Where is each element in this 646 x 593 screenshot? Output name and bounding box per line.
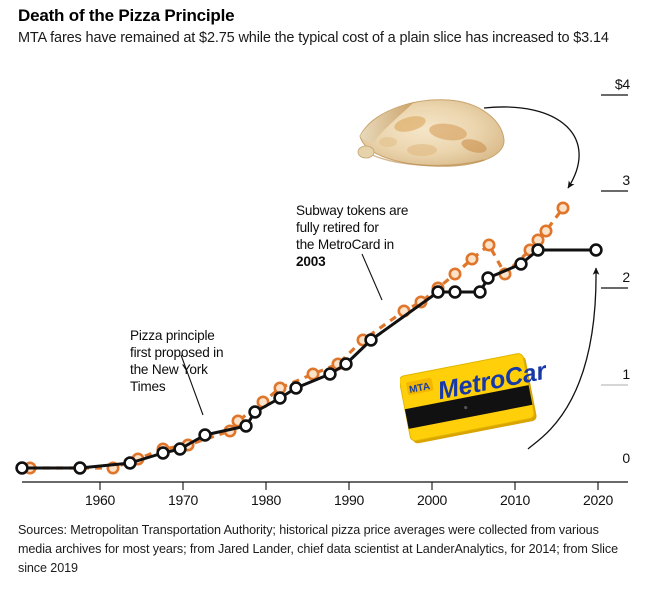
chart-page: Death of the Pizza Principle MTA fares h…: [0, 0, 646, 593]
y-tick-label-4: $4: [596, 76, 630, 92]
annotation-tokens-line2: fully retired for: [296, 219, 408, 236]
x-tick-label-1960: 1960: [70, 492, 130, 508]
y-tick-label-3: 3: [596, 172, 630, 188]
y-axis-ticks: [601, 95, 628, 385]
x-tick-label-1980: 1980: [236, 492, 296, 508]
chart-header: Death of the Pizza Principle MTA fares h…: [18, 6, 628, 49]
chart-plot-area: $4 3 2 1 0 1960 1970 1980 1990 2000 2010…: [0, 78, 646, 498]
annotation-pizza-line3: the New York: [130, 361, 223, 378]
annotation-tokens-year: 2003: [296, 253, 408, 270]
y-tick-label-0: 0: [596, 450, 630, 466]
annotation-tokens-line3: the MetroCard in: [296, 236, 408, 253]
chart-subtitle: MTA fares have remained at $2.75 while t…: [18, 29, 628, 48]
x-tick-label-2020: 2020: [568, 492, 628, 508]
metrocard-photo: MTA MetroCard: [400, 352, 546, 444]
annotation-tokens-line1: Subway tokens are: [296, 202, 408, 219]
x-tick-label-2000: 2000: [402, 492, 462, 508]
x-tick-label-1990: 1990: [319, 492, 379, 508]
chart-footnote: Sources: Metropolitan Transportation Aut…: [18, 521, 630, 578]
chart-svg: [0, 78, 646, 498]
x-tick-label-1970: 1970: [153, 492, 213, 508]
annotation-pizza-principle: Pizza principle first proposed in the Ne…: [130, 327, 223, 396]
x-axis-ticks: [100, 482, 598, 490]
pizza-slice-photo: [358, 100, 504, 166]
y-tick-label-2: 2: [596, 269, 630, 285]
annotation-pizza-line2: first proposed in: [130, 344, 223, 361]
x-tick-label-2010: 2010: [485, 492, 545, 508]
page-title: Death of the Pizza Principle: [18, 6, 628, 26]
y-tick-label-1: 1: [596, 366, 630, 382]
annotation-pizza-line4: Times: [130, 378, 223, 395]
annotation-pizza-line1: Pizza principle: [130, 327, 223, 344]
annotation-subway-tokens: Subway tokens are fully retired for the …: [296, 202, 408, 271]
